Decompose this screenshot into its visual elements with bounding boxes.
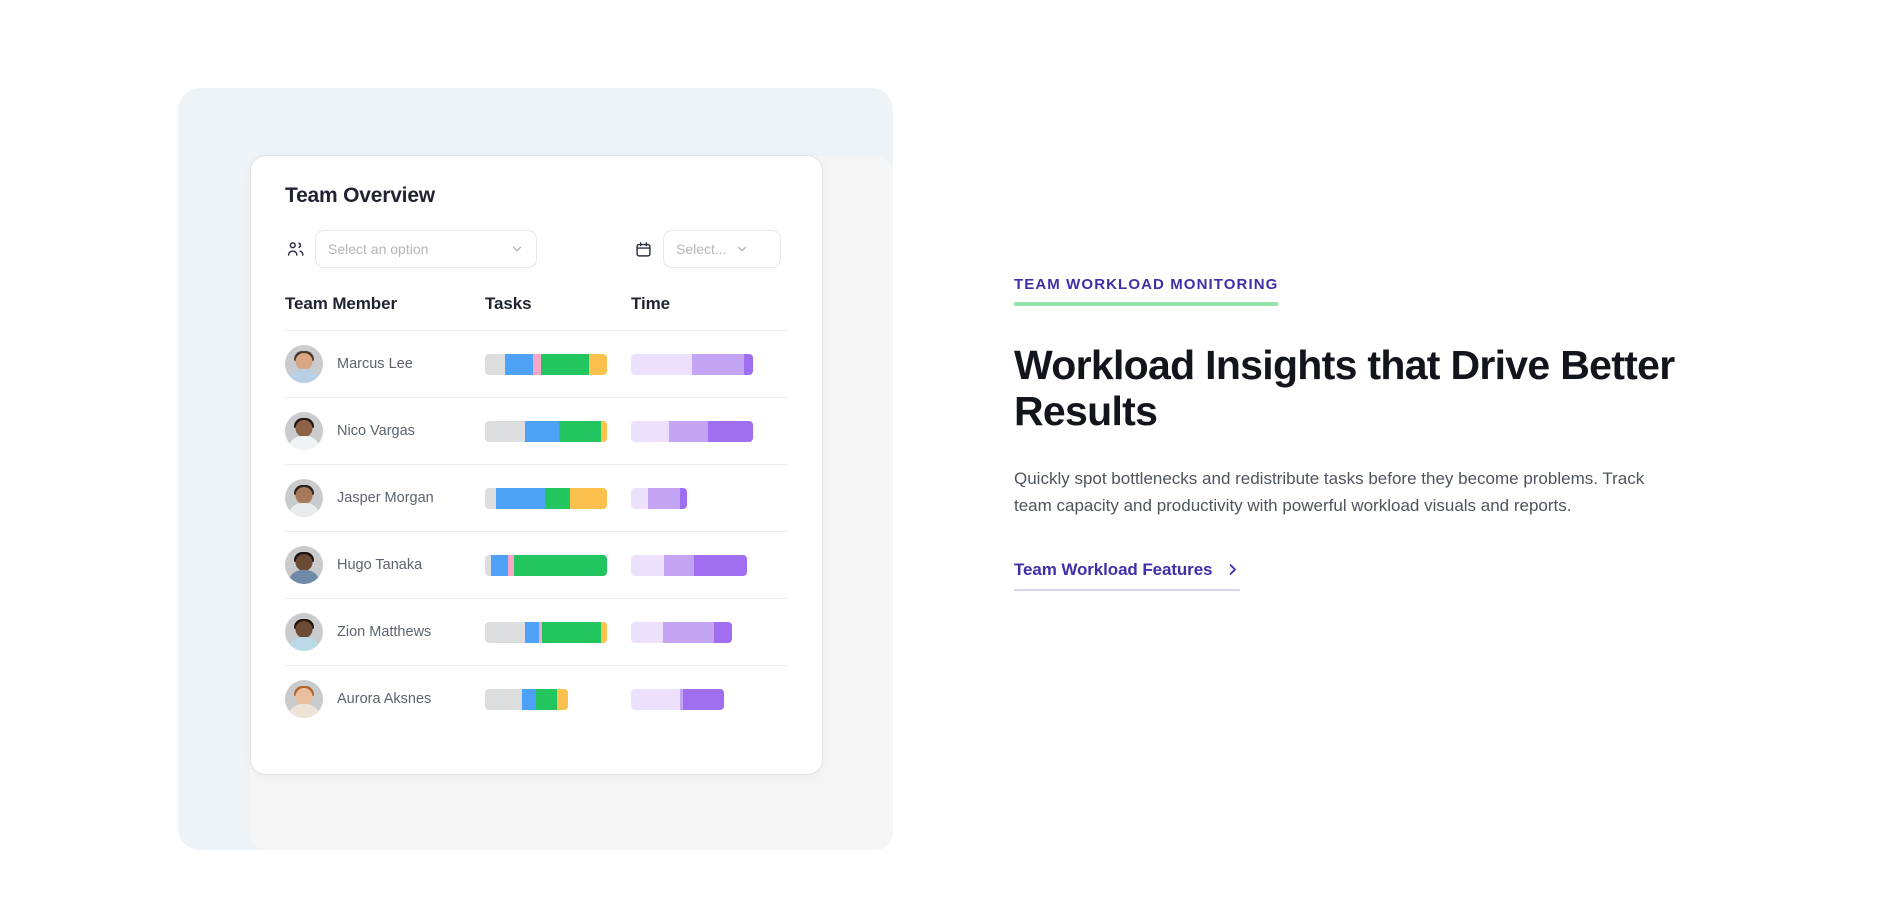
tasks-bar: [485, 689, 568, 710]
tasks-bar: [485, 555, 607, 576]
bar-segment: [545, 488, 571, 509]
bar-segment: [533, 354, 542, 375]
member-cell: Hugo Tanaka: [285, 546, 485, 584]
copy-column: TEAM WORKLOAD MONITORING Workload Insigh…: [1014, 276, 1714, 591]
bar-segment: [680, 488, 687, 509]
tasks-cell: [485, 354, 631, 375]
bar-segment: [536, 689, 557, 710]
bar-segment: [631, 622, 663, 643]
avatar: [285, 412, 323, 450]
bar-segment: [631, 488, 648, 509]
time-cell: [631, 555, 771, 576]
page-root: Team Overview Select an option: [0, 0, 1901, 920]
member-cell: Jasper Morgan: [285, 479, 485, 517]
bar-segment: [669, 421, 708, 442]
member-name: Hugo Tanaka: [337, 557, 422, 573]
people-icon: [285, 239, 305, 259]
bar-segment: [663, 622, 714, 643]
bar-segment: [542, 622, 601, 643]
date-select[interactable]: Select...: [663, 230, 781, 268]
bar-segment: [570, 488, 607, 509]
member-cell: Zion Matthews: [285, 613, 485, 651]
avatar: [285, 680, 323, 718]
date-filter-group: Select...: [633, 230, 781, 268]
bar-segment: [601, 622, 607, 643]
member-cell: Marcus Lee: [285, 345, 485, 383]
table-body: Marcus LeeNico VargasJasper MorganHugo T…: [285, 330, 788, 732]
bar-segment: [485, 421, 525, 442]
table-header: Team Member Tasks Time: [285, 294, 788, 330]
member-cell: Nico Vargas: [285, 412, 485, 450]
bar-segment: [744, 354, 753, 375]
bar-segment: [648, 488, 680, 509]
team-workload-features-link[interactable]: Team Workload Features: [1014, 560, 1240, 591]
bar-segment: [485, 354, 505, 375]
tasks-bar: [485, 421, 607, 442]
bar-segment: [683, 689, 723, 710]
bar-segment: [541, 354, 589, 375]
table-row[interactable]: Hugo Tanaka: [285, 531, 788, 598]
widget-title: Team Overview: [285, 184, 788, 208]
tasks-cell: [485, 689, 631, 710]
tasks-bar: [485, 622, 607, 643]
bar-segment: [485, 622, 525, 643]
time-cell: [631, 354, 771, 375]
tasks-cell: [485, 555, 631, 576]
bar-segment: [631, 689, 680, 710]
table-row[interactable]: Aurora Aksnes: [285, 665, 788, 732]
avatar: [285, 479, 323, 517]
filter-row: Select an option: [285, 230, 788, 268]
bar-segment: [485, 689, 522, 710]
tasks-cell: [485, 622, 631, 643]
member-name: Jasper Morgan: [337, 490, 434, 506]
bar-segment: [601, 421, 607, 442]
team-filter-group: Select an option: [285, 230, 537, 268]
table-row[interactable]: Jasper Morgan: [285, 464, 788, 531]
bar-segment: [664, 555, 695, 576]
bar-segment: [485, 488, 496, 509]
column-header-team-member: Team Member: [285, 294, 485, 314]
bar-segment: [496, 488, 545, 509]
table-row[interactable]: Zion Matthews: [285, 598, 788, 665]
time-bar: [631, 354, 753, 375]
bar-segment: [491, 555, 508, 576]
time-cell: [631, 488, 771, 509]
table-row[interactable]: Marcus Lee: [285, 330, 788, 397]
avatar: [285, 546, 323, 584]
column-header-time: Time: [631, 294, 771, 314]
member-name: Zion Matthews: [337, 624, 431, 640]
avatar: [285, 345, 323, 383]
bar-segment: [708, 421, 753, 442]
bar-segment: [514, 555, 607, 576]
tasks-bar: [485, 488, 607, 509]
tasks-cell: [485, 421, 631, 442]
bar-segment: [714, 622, 732, 643]
bar-segment: [525, 622, 538, 643]
chevron-right-icon: [1225, 562, 1240, 577]
time-cell: [631, 421, 771, 442]
member-name: Nico Vargas: [337, 423, 415, 439]
tasks-bar: [485, 354, 607, 375]
bar-segment: [522, 689, 537, 710]
bar-segment: [589, 354, 607, 375]
cta-label: Team Workload Features: [1014, 560, 1212, 580]
eyebrow-label: TEAM WORKLOAD MONITORING: [1014, 276, 1278, 306]
member-name: Aurora Aksnes: [337, 691, 431, 707]
team-overview-card: Team Overview Select an option: [250, 155, 823, 775]
chevron-down-icon: [735, 242, 749, 256]
time-bar: [631, 555, 747, 576]
avatar: [285, 613, 323, 651]
time-cell: [631, 622, 771, 643]
calendar-icon: [633, 239, 653, 259]
time-bar: [631, 488, 687, 509]
time-bar: [631, 421, 753, 442]
bar-segment: [557, 689, 568, 710]
member-name: Marcus Lee: [337, 356, 413, 372]
page-title: Workload Insights that Drive Better Resu…: [1014, 342, 1704, 435]
time-bar: [631, 689, 724, 710]
team-select-placeholder: Select an option: [328, 241, 510, 257]
member-cell: Aurora Aksnes: [285, 680, 485, 718]
bar-segment: [694, 555, 746, 576]
bar-segment: [559, 421, 600, 442]
column-header-tasks: Tasks: [485, 294, 631, 314]
body-paragraph: Quickly spot bottlenecks and redistribut…: [1014, 465, 1674, 520]
bar-segment: [692, 354, 744, 375]
bar-segment: [631, 421, 669, 442]
time-bar: [631, 622, 732, 643]
bar-segment: [525, 421, 559, 442]
tasks-cell: [485, 488, 631, 509]
time-cell: [631, 689, 771, 710]
bar-segment: [631, 555, 664, 576]
team-select[interactable]: Select an option: [315, 230, 537, 268]
table-row[interactable]: Nico Vargas: [285, 397, 788, 464]
date-select-placeholder: Select...: [676, 241, 727, 257]
bar-segment: [631, 354, 692, 375]
chevron-down-icon: [510, 242, 524, 256]
bar-segment: [505, 354, 533, 375]
